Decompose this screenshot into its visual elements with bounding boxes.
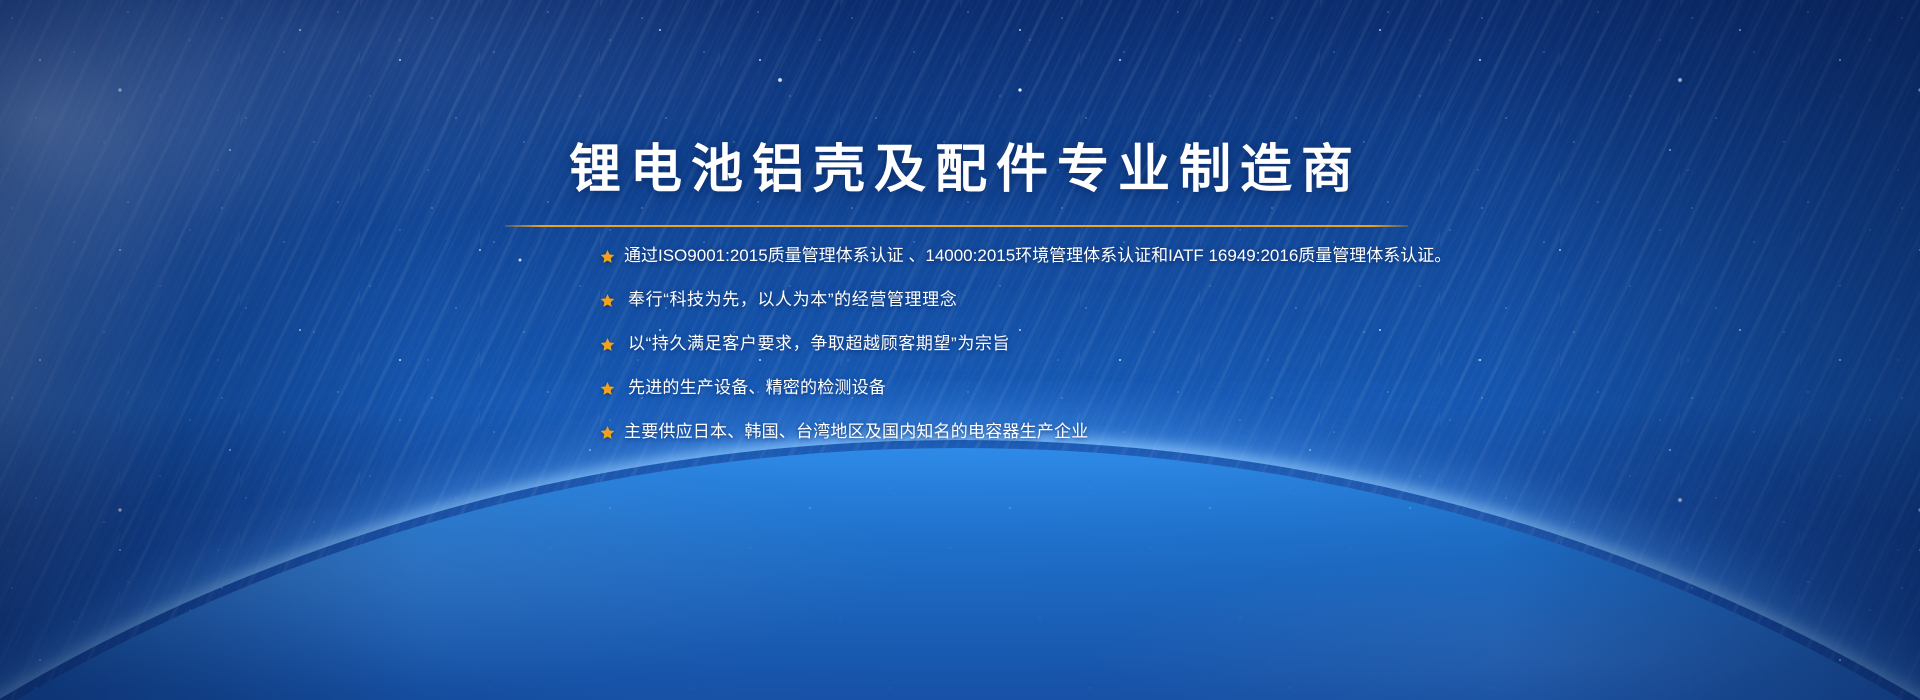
- list-item: 以“持久满足客户要求，争取超越顾客期望”为宗旨: [600, 333, 1460, 355]
- star-icon: [600, 381, 615, 396]
- star-icon: [600, 425, 615, 440]
- list-item: 先进的生产设备、精密的检测设备: [600, 377, 1460, 399]
- gold-divider-rule: [505, 225, 1408, 227]
- list-item: 通过ISO9001:2015质量管理体系认证 、14000:2015环境管理体系…: [600, 245, 1460, 267]
- list-item: 主要供应日本、韩国、台湾地区及国内知名的电容器生产企业: [600, 421, 1460, 443]
- list-item: 奉行“科技为先，以人为本”的经营管理理念: [600, 289, 1460, 311]
- list-item-label: 奉行“科技为先，以人为本”的经营管理理念: [628, 289, 957, 311]
- list-item-label: 主要供应日本、韩国、台湾地区及国内知名的电容器生产企业: [624, 421, 1088, 443]
- star-icon: [600, 249, 615, 264]
- banner-headline: 锂电池铝壳及配件专业制造商: [560, 140, 1360, 201]
- hero-banner: 锂电池铝壳及配件专业制造商 通过ISO9001:2015质量管理体系认证 、14…: [0, 0, 1920, 700]
- list-item-label: 以“持久满足客户要求，争取超越顾客期望”为宗旨: [628, 333, 1010, 355]
- list-item-label: 通过ISO9001:2015质量管理体系认证 、14000:2015环境管理体系…: [624, 245, 1451, 267]
- feature-bullet-list: 通过ISO9001:2015质量管理体系认证 、14000:2015环境管理体系…: [600, 245, 1460, 443]
- star-icon: [600, 293, 615, 308]
- banner-content: 锂电池铝壳及配件专业制造商 通过ISO9001:2015质量管理体系认证 、14…: [0, 0, 1920, 700]
- list-item-label: 先进的生产设备、精密的检测设备: [628, 377, 886, 399]
- star-icon: [600, 337, 615, 352]
